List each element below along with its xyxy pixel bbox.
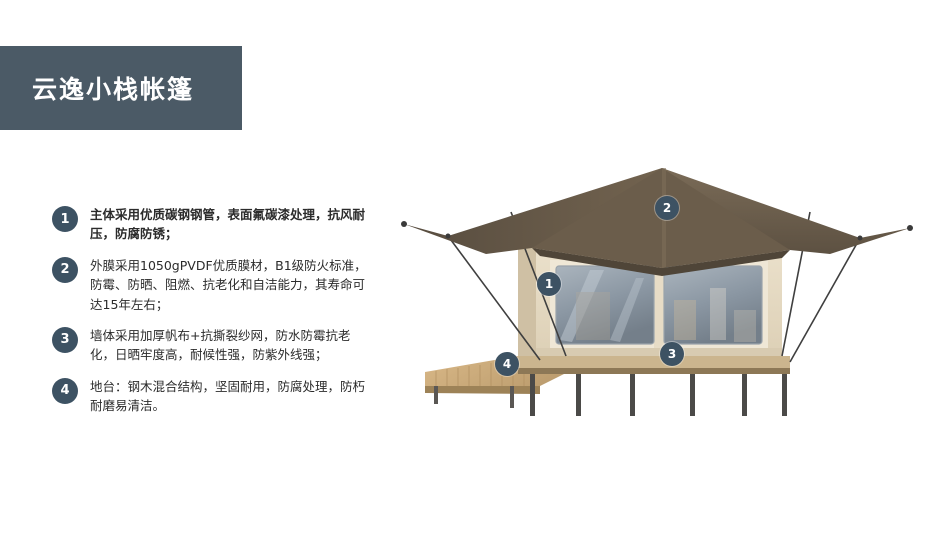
callout-badge-4: 4 [495,352,519,376]
tent-main-floor [518,356,790,374]
callout-badge-1: 1 [537,272,561,296]
tent-render-svg [390,150,935,440]
list-item: 3 墙体采用加厚帆布+抗撕裂纱网，防水防霉抗老化，日晒牢度高，耐候性强，防紫外线… [52,326,372,365]
callout-badge-3: 3 [660,342,684,366]
tent-roof-membrane [404,168,910,276]
feature-text: 主体采用优质碳钢钢管，表面氟碳漆处理，抗风耐压，防腐防锈； [90,205,372,244]
feature-list: 1 主体采用优质碳钢钢管，表面氟碳漆处理，抗风耐压，防腐防锈； 2 外膜采用10… [52,205,372,415]
feature-number-badge: 2 [52,257,78,283]
callout-badge-2: 2 [655,196,679,220]
list-item: 1 主体采用优质碳钢钢管，表面氟碳漆处理，抗风耐压，防腐防锈； [52,205,372,244]
feature-text: 墙体采用加厚帆布+抗撕裂纱网，防水防霉抗老化，日晒牢度高，耐候性强，防紫外线强； [90,326,372,365]
title-banner: 云逸小栈帐篷 [0,46,242,130]
slide-page: 云逸小栈帐篷 1 主体采用优质碳钢钢管，表面氟碳漆处理，抗风耐压，防腐防锈； 2… [0,0,950,534]
feature-text: 地台：钢木混合结构，坚固耐用，防腐处理，防朽耐磨易清洁。 [90,377,372,416]
feature-number-badge: 4 [52,378,78,404]
list-item: 4 地台：钢木混合结构，坚固耐用，防腐处理，防朽耐磨易清洁。 [52,377,372,416]
tent-illustration: 1 2 3 4 [390,150,935,440]
feature-number-badge: 3 [52,327,78,353]
list-item: 2 外膜采用1050gPVDF优质膜材，B1级防火标准，防霉、防晒、阻燃、抗老化… [52,256,372,314]
page-title: 云逸小栈帐篷 [32,70,194,106]
feature-text: 外膜采用1050gPVDF优质膜材，B1级防火标准，防霉、防晒、阻燃、抗老化和自… [90,256,372,314]
feature-number-badge: 1 [52,206,78,232]
